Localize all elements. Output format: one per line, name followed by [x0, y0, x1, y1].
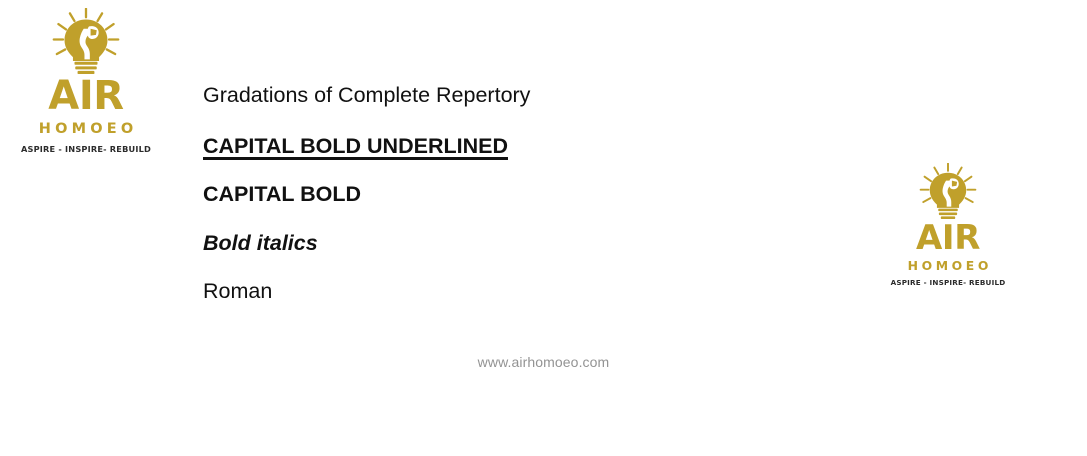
logo-air-homoeo-secondary: AIR HOMOEO ASPIRE - INSPIRE- REBUILD	[893, 163, 1003, 287]
gradations-text-block: Gradations of Complete Repertory CAPITAL…	[203, 85, 843, 303]
logo-wordmark: AIR	[916, 221, 980, 255]
logo-subtitle: HOMOEO	[904, 260, 992, 272]
page-title: Gradations of Complete Repertory	[203, 85, 843, 107]
gradation-item-roman: Roman	[203, 281, 843, 303]
gradation-item-capital-bold-underlined: CAPITAL BOLD UNDERLINED	[203, 136, 843, 158]
logo-wordmark: AIR	[48, 76, 123, 116]
slide-canvas: AIR HOMOEO ASPIRE - INSPIRE- REBUILD Gra…	[0, 0, 1087, 456]
gradation-item-bold-italics: Bold italics	[203, 233, 843, 255]
logo-subtitle: HOMOEO	[35, 122, 138, 137]
logo-air-homoeo-primary: AIR HOMOEO ASPIRE - INSPIRE- REBUILD	[22, 8, 150, 153]
gradation-item-capital-bold: CAPITAL BOLD	[203, 184, 843, 206]
lightbulb-with-fist-icon	[915, 163, 981, 219]
lightbulb-with-fist-icon	[47, 8, 125, 74]
logo-tagline: ASPIRE - INSPIRE- REBUILD	[21, 145, 151, 153]
footer-website-url: www.airhomoeo.com	[0, 354, 1087, 370]
logo-tagline: ASPIRE - INSPIRE- REBUILD	[891, 279, 1006, 286]
